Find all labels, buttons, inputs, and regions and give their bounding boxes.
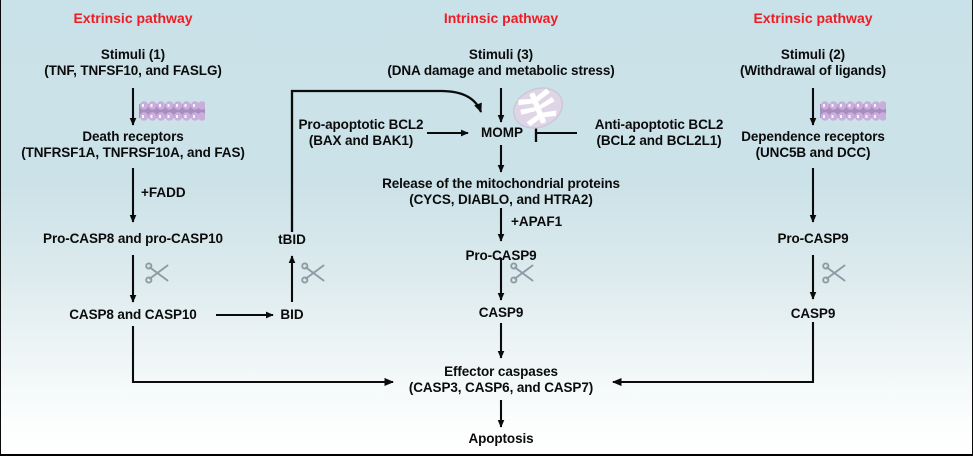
node-bid: BID bbox=[262, 307, 322, 322]
node-release-mitochondrial-proteins: Release of the mitochondrial proteins (C… bbox=[341, 176, 661, 208]
node-stimuli-3: Stimuli (3) (DNA damage and metabolic st… bbox=[341, 47, 661, 79]
node-effector-caspases: Effector caspases (CASP3, CASP6, and CAS… bbox=[341, 364, 661, 396]
node-casp8-casp10: CASP8 and CASP10 bbox=[3, 307, 263, 323]
edge-label-fadd: +FADD bbox=[141, 185, 186, 200]
node-momp: MOMP bbox=[467, 125, 537, 140]
scissors-icon-casp9-right bbox=[822, 262, 848, 288]
stimuli-2-line2: (Withdrawal of ligands) bbox=[683, 63, 943, 79]
node-pro-casp9-right: Pro-CASP9 bbox=[713, 231, 913, 247]
node-dependence-receptors: Dependence receptors (UNC5B and DCC) bbox=[683, 129, 943, 161]
node-casp9-right: CASP9 bbox=[713, 306, 913, 322]
pro-apoptotic-bcl2-line2: (BAX and BAK1) bbox=[291, 133, 431, 149]
node-tbid: tBID bbox=[262, 232, 322, 247]
stimuli-1-line2: (TNF, TNFSF10, and FASLG) bbox=[3, 63, 263, 79]
scissors-icon-casp8 bbox=[145, 262, 171, 288]
stimuli-2-line1: Stimuli (2) bbox=[683, 47, 943, 63]
node-pro-casp8-pro-casp10: Pro-CASP8 and pro-CASP10 bbox=[3, 231, 263, 247]
stimuli-3-line1: Stimuli (3) bbox=[341, 47, 661, 63]
release-line1: Release of the mitochondrial proteins bbox=[341, 176, 661, 192]
stimuli-3-line2: (DNA damage and metabolic stress) bbox=[341, 63, 661, 79]
lipid-bilayer-membrane-icon-right bbox=[820, 100, 886, 127]
node-stimuli-2: Stimuli (2) (Withdrawal of ligands) bbox=[683, 47, 943, 79]
edge-label-apaf1: +APAF1 bbox=[511, 214, 562, 229]
arrow-tbid-to-momp bbox=[292, 91, 481, 232]
dependence-receptors-line2: (UNC5B and DCC) bbox=[683, 145, 943, 161]
node-casp9-center: CASP9 bbox=[401, 305, 601, 321]
heading-extrinsic-left: Extrinsic pathway bbox=[33, 10, 233, 26]
scissors-icon-casp9-center bbox=[510, 262, 536, 288]
node-death-receptors: Death receptors (TNFRSF1A, TNFRSF10A, an… bbox=[3, 129, 263, 161]
apoptosis-pathway-figure: Extrinsic pathway Intrinsic pathway Extr… bbox=[0, 0, 973, 456]
death-receptors-line2: (TNFRSF1A, TNFRSF10A, and FAS) bbox=[3, 145, 263, 161]
lipid-bilayer-membrane-icon bbox=[139, 100, 205, 127]
node-pro-casp9-center: Pro-CASP9 bbox=[401, 248, 601, 264]
pro-apoptotic-bcl2-line1: Pro-apoptotic BCL2 bbox=[291, 117, 431, 133]
stimuli-1-line1: Stimuli (1) bbox=[3, 47, 263, 63]
death-receptors-line1: Death receptors bbox=[3, 129, 263, 145]
effector-caspases-line2: (CASP3, CASP6, and CASP7) bbox=[341, 380, 661, 396]
heading-extrinsic-right: Extrinsic pathway bbox=[713, 10, 913, 26]
release-line2: (CYCS, DIABLO, and HTRA2) bbox=[341, 192, 661, 208]
node-apoptosis: Apoptosis bbox=[401, 431, 601, 447]
effector-caspases-line1: Effector caspases bbox=[341, 364, 661, 380]
node-stimuli-1: Stimuli (1) (TNF, TNFSF10, and FASLG) bbox=[3, 47, 263, 79]
heading-intrinsic: Intrinsic pathway bbox=[401, 10, 601, 26]
node-pro-apoptotic-bcl2: Pro-apoptotic BCL2 (BAX and BAK1) bbox=[291, 117, 431, 149]
dependence-receptors-line1: Dependence receptors bbox=[683, 129, 943, 145]
scissors-icon-bid bbox=[301, 262, 327, 288]
